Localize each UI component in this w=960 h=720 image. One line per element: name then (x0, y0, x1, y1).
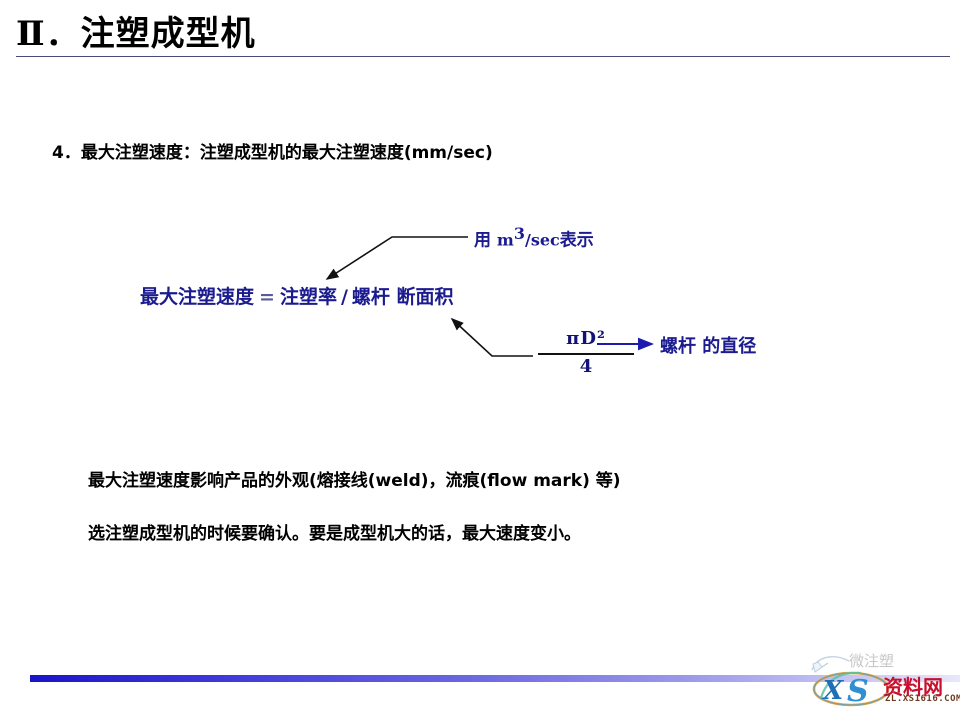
arrow-unit-to-formula (327, 237, 468, 279)
slide-canvas: Ⅱ．注塑成型机 4．最大注塑速度：注塑成型机的最大注塑速度(mm/sec) 用 … (0, 0, 960, 720)
formula-slash: / (337, 286, 352, 308)
unit-annotation-prefix: 用 (474, 231, 497, 251)
svg-text:X: X (821, 676, 845, 706)
arrow-overlay (0, 0, 960, 720)
title-divider (16, 56, 950, 57)
screw-diameter-label: 螺杆 的直径 (660, 332, 756, 358)
fraction-denominator: 4 (534, 358, 638, 376)
fraction-numerator: πD² (534, 330, 638, 348)
formula-denominator-term: 螺杆 断面积 (352, 286, 454, 308)
watermark: 微注塑 X S 资料网 ZL.XS1616.COM (805, 650, 960, 718)
unit-annotation-suffix: /sec (525, 231, 560, 250)
heading-item-4: 4．最大注塑速度：注塑成型机的最大注塑速度(mm/sec) (52, 138, 493, 163)
watermark-url-text: ZL.XS1616.COM (885, 694, 960, 704)
unit-annotation-exponent: 3 (514, 224, 525, 243)
svg-text:S: S (847, 674, 869, 708)
formula-numerator-term: 注塑率 (280, 286, 337, 308)
body-paragraph-1: 最大注塑速度影响产品的外观(熔接线(weld)，流痕(flow mark) 等) (88, 466, 621, 491)
unit-annotation: 用 m3/sec表示 (474, 224, 594, 251)
arrow-fraction-to-area (452, 319, 533, 356)
formula-equals-sign: = (254, 286, 280, 308)
main-formula: 最大注塑速度=注塑率/螺杆 断面积 (140, 282, 454, 309)
formula-left-term: 最大注塑速度 (140, 286, 254, 308)
page-title: Ⅱ．注塑成型机 (16, 6, 256, 55)
unit-annotation-postfix: 表示 (560, 231, 594, 251)
body-paragraph-2: 选注塑成型机的时候要确认。要是成型机大的话，最大速度变小。 (88, 519, 581, 544)
fraction-bar (538, 353, 634, 355)
area-fraction: πD² 4 (534, 330, 638, 376)
unit-annotation-base: m (497, 231, 514, 250)
